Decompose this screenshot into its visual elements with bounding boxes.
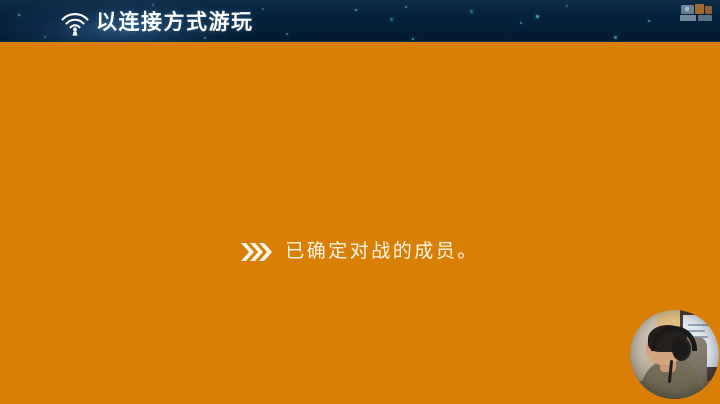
monitor-text-line: [688, 330, 705, 332]
header-star-dot: [390, 18, 393, 21]
webcam-scene: [630, 310, 719, 399]
stream-watermark-badge: [678, 2, 716, 24]
streamer-webcam[interactable]: [630, 310, 719, 399]
header-bar: 以连接方式游玩: [0, 0, 720, 42]
header-star-dot: [520, 22, 522, 24]
header-star-dot: [536, 15, 539, 18]
main-stage: 已确定对战的成员。: [0, 42, 720, 404]
wireless-broadcast-icon: [58, 9, 92, 36]
header-title: 以连接方式游玩: [96, 9, 254, 36]
header-star-dot: [412, 38, 414, 40]
header-star-dot: [405, 6, 407, 8]
header-star-dot: [566, 5, 568, 7]
header-star-dot: [648, 20, 650, 22]
header-star-dot: [355, 9, 357, 11]
header-star-dot: [204, 37, 206, 39]
header-star-dot: [614, 36, 617, 39]
headphone-earcup: [672, 337, 692, 361]
header-star-dot: [44, 36, 46, 38]
monitor-text-line: [688, 324, 710, 326]
header-star-dot: [18, 14, 20, 16]
header-star-dot: [262, 8, 264, 10]
status-message-text: 已确定对战的成员。: [285, 235, 479, 269]
header-star-dot: [152, 4, 154, 6]
game-screen: 已确定对战的成员。 以连接方式游玩: [0, 0, 720, 404]
header-star-dot: [286, 33, 288, 35]
status-message-row: 已确定对战的成员。: [0, 235, 720, 269]
header-star-dot: [470, 10, 473, 13]
triple-chevron-right-icon: [241, 241, 273, 263]
